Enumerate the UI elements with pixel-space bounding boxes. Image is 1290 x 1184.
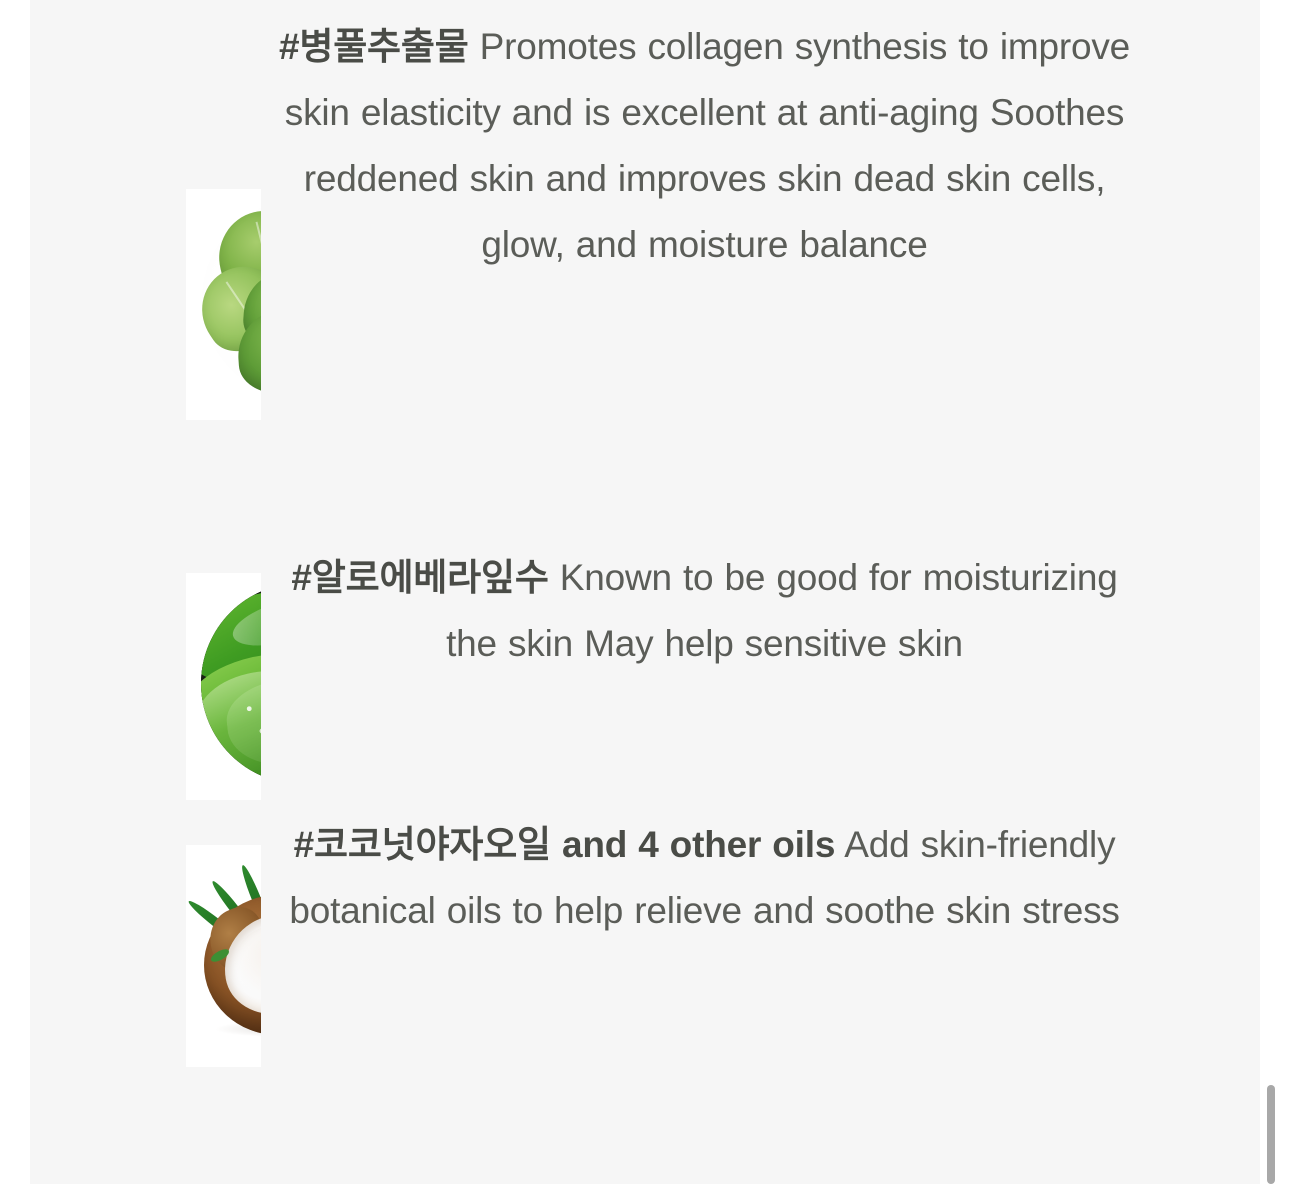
ingredient-thumbnail-centella [30,14,261,434]
vertical-scrollbar-track[interactable] [1274,0,1290,1184]
ingredient-item-coconut: #코코넛야자오일 and 4 other oils Add skin-frien… [30,812,1260,1067]
ingredient-thumbnail-coconut [30,812,261,1067]
ingredient-text-column: #코코넛야자오일 and 4 other oils Add skin-frien… [261,812,1260,944]
ingredient-tag-aloe: #알로에베라잎수 [291,557,548,598]
ingredient-tag-coconut: #코코넛야자오일 [294,824,551,865]
vertical-scrollbar-thumb[interactable] [1267,1085,1275,1184]
photo-circular-crop [201,583,261,784]
ingredient-text-column: #알로에베라잎수 Known to be good for moisturizi… [261,545,1260,677]
ingredient-text-column: #병풀추출물 Promotes collagen synthesis to im… [261,14,1260,278]
aloe-vera-slices-photo [186,573,261,800]
ingredient-list: #병풀추출물 Promotes collagen synthesis to im… [30,0,1260,1184]
product-description-canvas: #병풀추출물 Promotes collagen synthesis to im… [30,0,1260,1184]
ingredient-description-coconut: #코코넛야자오일 and 4 other oils Add skin-frien… [269,812,1140,944]
ingredient-description-aloe: #알로에베라잎수 Known to be good for moisturizi… [269,545,1140,677]
page-frame: #병풀추출물 Promotes collagen synthesis to im… [0,0,1290,1184]
coconut-and-oil-photo [186,845,261,1067]
ingredient-item-aloe: #알로에베라잎수 Known to be good for moisturizi… [30,545,1260,800]
ingredient-thumbnail-aloe [30,545,261,800]
centella-asiatica-leaves-photo [186,189,261,420]
ingredient-tag-centella: #병풀추출물 [279,26,469,67]
ingredient-item-centella: #병풀추출물 Promotes collagen synthesis to im… [30,14,1260,434]
ingredient-description-centella: #병풀추출물 Promotes collagen synthesis to im… [269,14,1140,278]
ingredient-tag-en-coconut: and 4 other oils [551,824,835,865]
